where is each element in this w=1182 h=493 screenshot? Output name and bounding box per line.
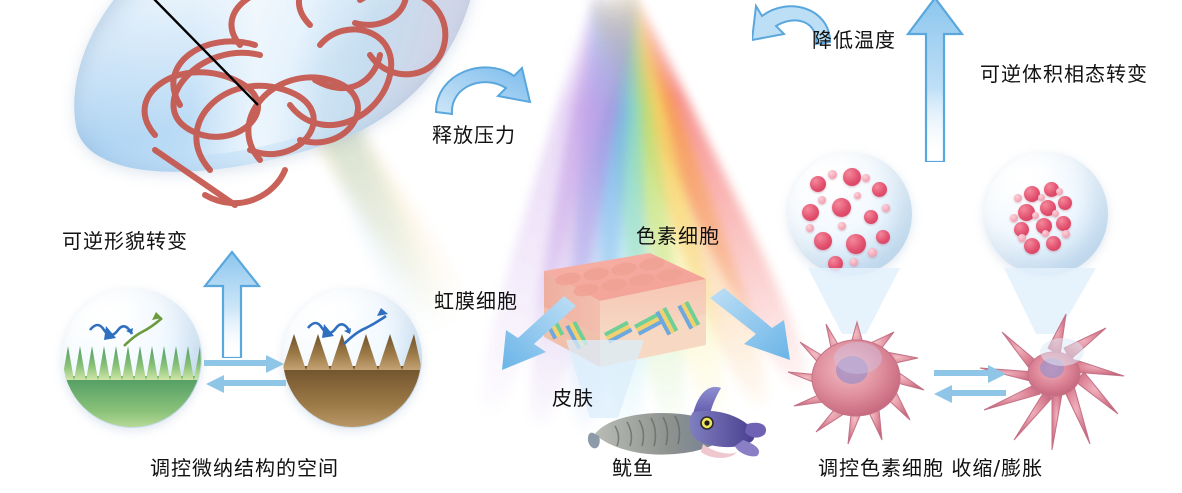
label-tune-micro-nano-structure: 调控微纳结构的空间	[150, 452, 339, 481]
arrow-to-iridophore	[478, 290, 588, 380]
chromatophore-expanded	[782, 310, 932, 450]
structural-sphere-green	[62, 288, 202, 428]
green-nanostructure	[62, 288, 202, 428]
label-release-pressure: 释放压力	[432, 119, 516, 148]
film-pointer-line	[140, 0, 280, 115]
label-tune-pigment-cell: 调控色素细胞 收缩/膨胀	[818, 452, 1043, 481]
chromatophore-equilibrium-arrow	[930, 358, 1010, 404]
label-reversible-morphology-transition: 可逆形貌转变	[62, 225, 188, 254]
label-squid: 鱿鱼	[612, 452, 654, 481]
label-reversible-volume-phase-transition: 可逆体积相态转变	[980, 58, 1148, 87]
label-pigment-cell: 色素细胞	[636, 220, 720, 249]
label-skin: 皮肤	[552, 382, 594, 411]
structure-equilibrium-arrow	[200, 348, 290, 394]
label-lower-temperature: 降低温度	[812, 24, 896, 53]
pigment-sphere-aggregated	[984, 152, 1108, 276]
figure-canvas: 释放压力 降低温度 可逆体积相态转变 可逆形貌转变	[0, 0, 1182, 493]
reversible-morphology-up-arrow	[198, 248, 268, 358]
structural-sphere-brown	[282, 288, 422, 428]
reversible-volume-up-arrow	[900, 0, 970, 162]
brown-nanostructure	[282, 288, 422, 428]
pigment-sphere-dispersed	[788, 152, 912, 276]
